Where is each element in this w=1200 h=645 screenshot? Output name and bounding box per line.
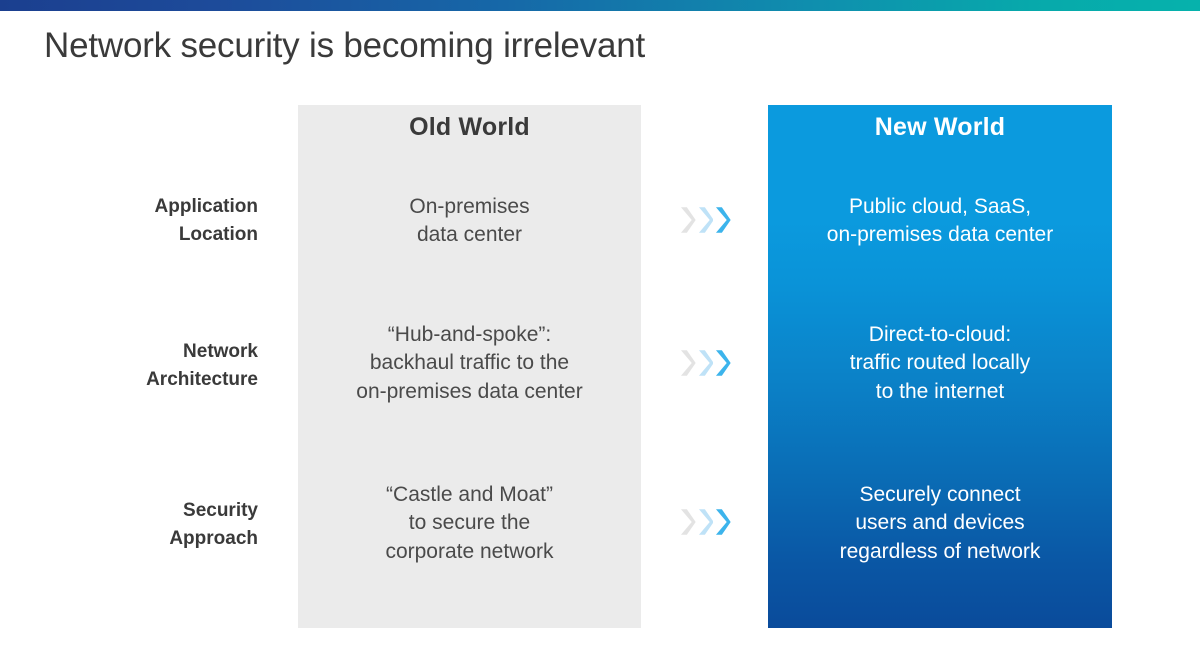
row-label-line-1: Security [60,497,258,525]
cell-line: traffic routed locally [768,349,1112,377]
row-label-application-location: Application Location [60,193,258,249]
new-cell-security-approach: Securely connect users and devices regar… [768,481,1112,566]
row-label-line-2: Location [60,221,258,249]
row-arrow-network-architecture [679,346,731,380]
chevron-right-icon [697,205,714,235]
chevron-right-icon [714,348,731,378]
cell-line: regardless of network [768,538,1112,566]
cell-line: on-premises data center [298,378,641,406]
chevron-right-icon [697,348,714,378]
chevron-right-icon [679,348,696,378]
cell-line: “Castle and Moat” [298,481,641,509]
cell-line: Securely connect [768,481,1112,509]
cell-line: Public cloud, SaaS, [768,193,1112,221]
cell-line: corporate network [298,538,641,566]
row-label-line-1: Network [60,338,258,366]
chevron-right-icon [714,507,731,537]
chevron-right-icon [714,205,731,235]
chevron-right-icon [679,507,696,537]
cell-line: data center [298,221,641,249]
new-cell-application-location: Public cloud, SaaS, on-premises data cen… [768,193,1112,250]
cell-line: “Hub-and-spoke”: [298,321,641,349]
new-world-header: New World [768,113,1112,142]
row-label-security-approach: Security Approach [60,497,258,553]
row-arrow-security-approach [679,505,731,539]
old-world-header: Old World [298,113,641,142]
page-title: Network security is becoming irrelevant [44,26,645,66]
chevron-right-icon [679,205,696,235]
old-cell-application-location: On-premises data center [298,193,641,250]
row-label-line-2: Architecture [60,366,258,394]
cell-line: users and devices [768,509,1112,537]
top-accent-bar [0,0,1200,11]
chevron-right-icon [697,507,714,537]
row-arrow-application-location [679,203,731,237]
cell-line: on-premises data center [768,221,1112,249]
cell-line: On-premises [298,193,641,221]
row-label-line-2: Approach [60,525,258,553]
cell-line: to secure the [298,509,641,537]
old-cell-security-approach: “Castle and Moat” to secure the corporat… [298,481,641,566]
old-cell-network-architecture: “Hub-and-spoke”: backhaul traffic to the… [298,321,641,406]
cell-line: Direct-to-cloud: [768,321,1112,349]
new-cell-network-architecture: Direct-to-cloud: traffic routed locally … [768,321,1112,406]
row-label-network-architecture: Network Architecture [60,338,258,394]
row-label-line-1: Application [60,193,258,221]
cell-line: to the internet [768,378,1112,406]
cell-line: backhaul traffic to the [298,349,641,377]
